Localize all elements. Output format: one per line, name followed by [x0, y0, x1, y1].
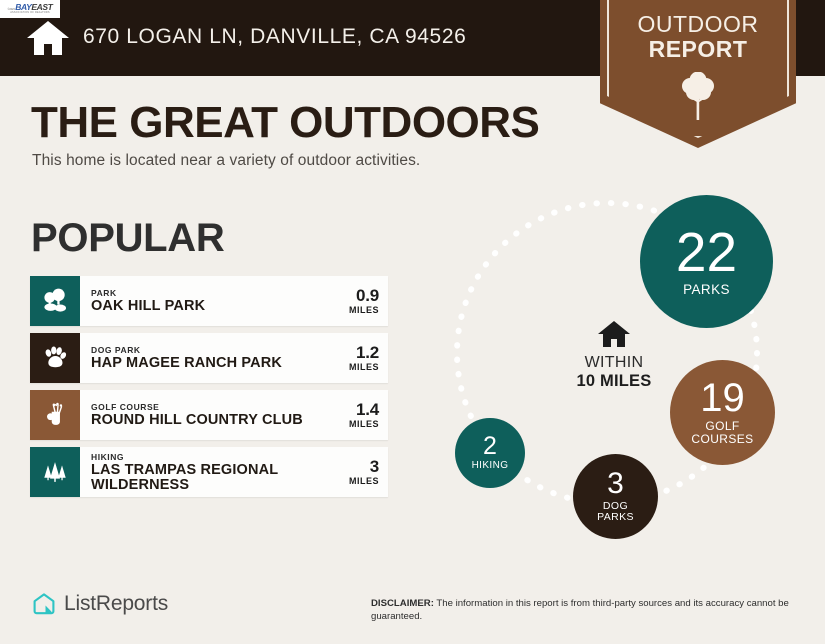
list-item-name: HAP MAGEE RANCH PARK — [91, 356, 326, 371]
distance-unit: MILES — [349, 418, 379, 430]
home-icon — [26, 20, 70, 56]
bubble-label: HIKING — [472, 460, 509, 471]
tree-icon — [678, 72, 718, 122]
listreports-logo[interactable]: ListReports — [32, 592, 168, 616]
popular-heading: POPULAR — [31, 216, 224, 261]
paw-print-icon — [30, 333, 80, 383]
bubble-value: 2 — [483, 435, 497, 459]
bay-east-logo: ©2023 BAY EAST ASSOCIATION OF REALTORS — [0, 0, 60, 18]
home-icon — [597, 320, 631, 348]
golf-bag-icon — [30, 390, 80, 440]
list-item-distance: 1.4 MILES — [326, 390, 388, 440]
bubble-parks[interactable]: 22 PARKS — [640, 195, 773, 328]
list-item[interactable]: HIKING LAS TRAMPAS REGIONAL WILDERNESS 3… — [30, 447, 388, 497]
outdoor-report-page: ©2023 BAY EAST ASSOCIATION OF REALTORS 6… — [0, 0, 825, 644]
distance-value: 0.9 — [356, 287, 379, 304]
pine-trees-icon — [30, 447, 80, 497]
distance-value: 1.4 — [356, 401, 379, 418]
distance-unit: MILES — [349, 361, 379, 373]
center-line2: 10 MILES — [554, 372, 674, 390]
brand-tagline: ASSOCIATION OF REALTORS — [10, 12, 50, 15]
list-item-distance: 3 MILES — [326, 447, 388, 497]
list-item-name: LAS TRAMPAS REGIONAL WILDERNESS — [91, 463, 326, 493]
list-item[interactable]: PARK OAK HILL PARK 0.9 MILES — [30, 276, 388, 326]
bubble-label-line2: PARKS — [597, 512, 634, 523]
distance-unit: MILES — [349, 475, 379, 487]
list-item[interactable]: GOLF COURSE ROUND HILL COUNTRY CLUB 1.4 … — [30, 390, 388, 440]
outdoor-bubble-chart: 22 PARKS 19 GOLF COURSES 3 DOG PARKS 2 H… — [430, 180, 825, 570]
disclaimer-label: DISCLAIMER: — [371, 598, 434, 609]
page-title: THE GREAT OUTDOORS — [31, 98, 539, 148]
bubble-label: DOG PARKS — [597, 501, 634, 523]
bubble-value: 22 — [676, 226, 737, 278]
list-item-name: ROUND HILL COUNTRY CLUB — [91, 413, 326, 428]
distance-value: 3 — [370, 458, 379, 475]
property-address: 670 LOGAN LN, DANVILLE, CA 94526 — [83, 25, 466, 49]
listreports-logo-text: ListReports — [64, 592, 168, 616]
list-item-distance: 1.2 MILES — [326, 333, 388, 383]
distance-unit: MILES — [349, 304, 379, 316]
badge-title-line2: REPORT — [600, 37, 796, 62]
list-item-category: HIKING — [91, 452, 326, 463]
bubble-label: GOLF COURSES — [691, 420, 753, 446]
bubble-label: PARKS — [683, 282, 730, 297]
bubble-dog-parks[interactable]: 3 DOG PARKS — [573, 454, 658, 539]
disclaimer-text: The information in this report is from t… — [371, 598, 789, 622]
bubble-value: 19 — [700, 379, 745, 417]
park-trees-icon — [30, 276, 80, 326]
bubble-label-line2: COURSES — [691, 433, 753, 446]
distance-value: 1.2 — [356, 344, 379, 361]
chart-center-label: WITHIN 10 MILES — [554, 320, 674, 390]
list-item-name: OAK HILL PARK — [91, 299, 326, 314]
badge-title: OUTDOOR REPORT — [600, 12, 796, 62]
badge-title-line1: OUTDOOR — [600, 12, 796, 37]
list-item-distance: 0.9 MILES — [326, 276, 388, 326]
list-item[interactable]: DOG PARK HAP MAGEE RANCH PARK 1.2 MILES — [30, 333, 388, 383]
center-line1: WITHIN — [554, 354, 674, 372]
outdoor-report-badge: OUTDOOR REPORT — [600, 0, 796, 148]
popular-list: PARK OAK HILL PARK 0.9 MILES — [30, 276, 388, 504]
bubble-hiking[interactable]: 2 HIKING — [455, 418, 525, 488]
bubble-golf-courses[interactable]: 19 GOLF COURSES — [670, 360, 775, 465]
page-subtitle: This home is located near a variety of o… — [32, 152, 420, 170]
bubble-value: 3 — [607, 470, 624, 499]
disclaimer: DISCLAIMER: The information in this repo… — [371, 598, 803, 623]
listreports-house-icon — [32, 592, 56, 616]
